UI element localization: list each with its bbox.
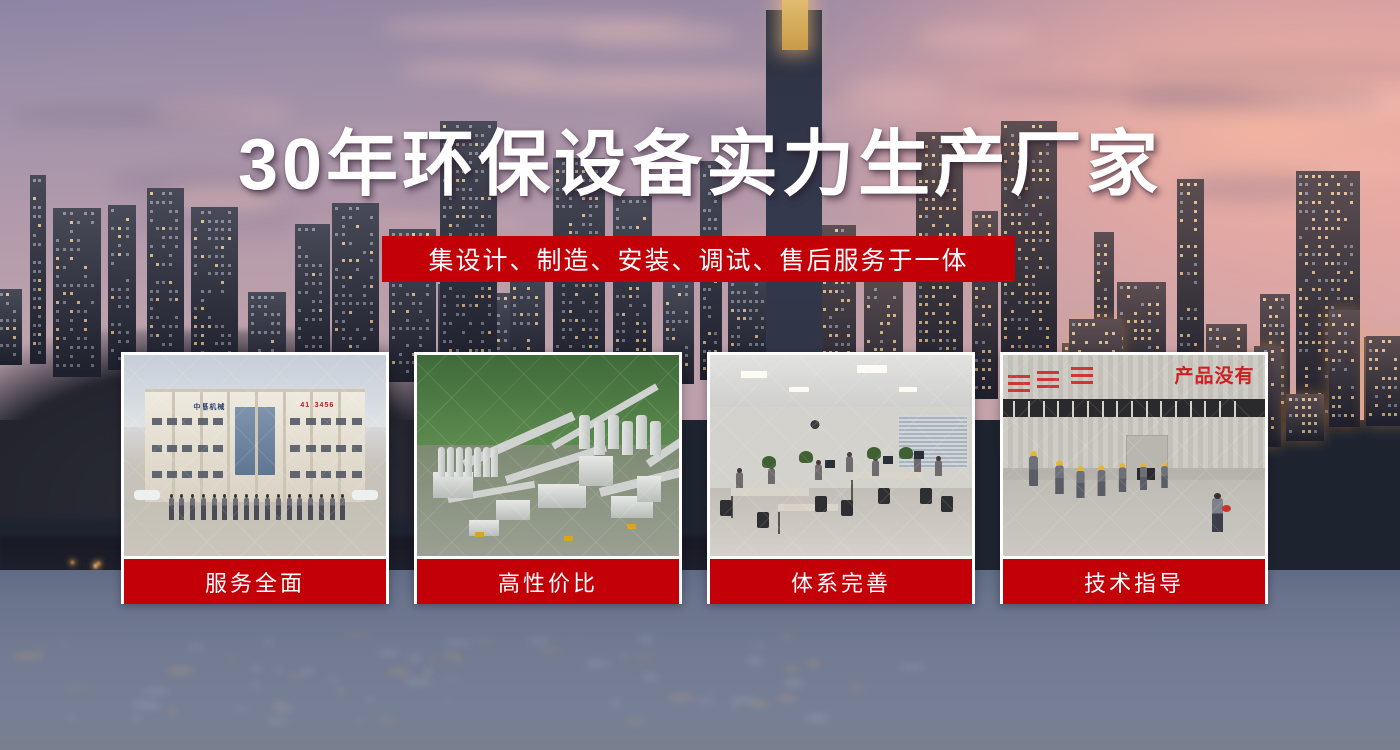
card-photo-workers: 产品没有 bbox=[1003, 355, 1265, 556]
subtitle-banner: 集设计、制造、安装、调试、售后服务于一体 bbox=[382, 236, 1015, 282]
card-photo-building: 中基机械 4113456 bbox=[124, 355, 386, 556]
factory-sign-text: 产品没有 bbox=[1175, 361, 1255, 388]
building-phone-text: 4113456 bbox=[300, 402, 334, 409]
tower-crown-light bbox=[782, 0, 808, 50]
feature-card[interactable]: 中基机械 4113456 服务全面 bbox=[121, 352, 389, 604]
subtitle-text: 集设计、制造、安装、调试、售后服务于一体 bbox=[428, 241, 968, 277]
card-label: 体系完善 bbox=[710, 559, 972, 604]
page-title: 30年环保设备实力生产厂家 bbox=[0, 129, 1400, 201]
card-label: 服务全面 bbox=[124, 559, 386, 604]
banner-stage: 30年环保设备实力生产厂家 集设计、制造、安装、调试、售后服务于一体 中基机械 … bbox=[0, 0, 1400, 750]
card-photo-plant-aerial bbox=[417, 355, 679, 556]
feature-card[interactable]: 高性价比 bbox=[414, 352, 682, 604]
feature-card[interactable]: 产品没有 技术指导 bbox=[1000, 352, 1268, 604]
building-sign-text: 中基机械 bbox=[193, 402, 225, 412]
card-photo-office bbox=[710, 355, 972, 556]
card-label: 技术指导 bbox=[1003, 559, 1265, 604]
feature-card-list: 中基机械 4113456 服务全面 高性价比 bbox=[121, 352, 1279, 604]
feature-card[interactable]: 体系完善 bbox=[707, 352, 975, 604]
card-label: 高性价比 bbox=[417, 559, 679, 604]
